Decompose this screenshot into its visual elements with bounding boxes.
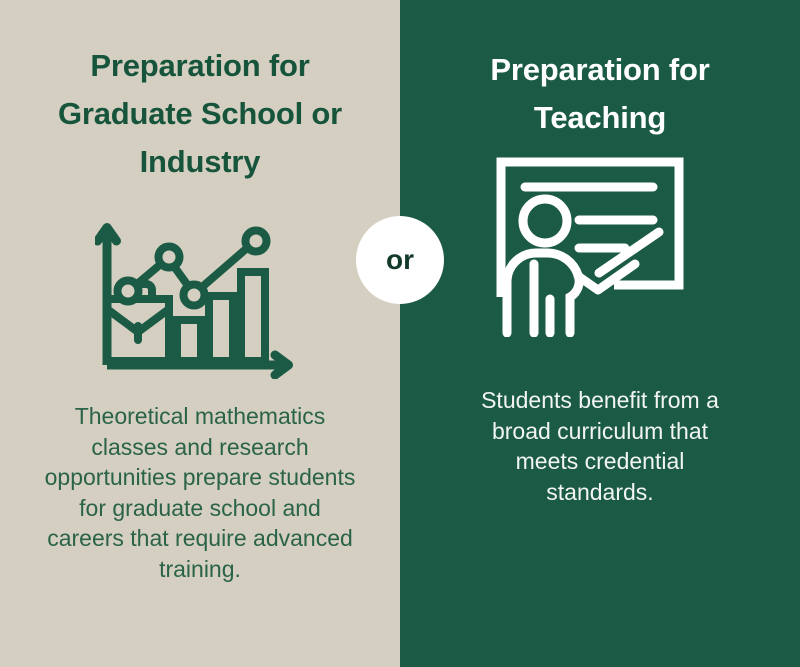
or-divider-badge: or — [356, 216, 444, 304]
panel-right-body-text: Students benefit from a broad curriculum… — [480, 385, 720, 507]
panel-left-body-text: Theoretical mathematics classes and rese… — [40, 401, 360, 584]
teacher-whiteboard-icon — [493, 152, 708, 337]
two-column-comparison-infographic: Preparation for Graduate School or Indus… — [0, 0, 800, 667]
growth-chart-briefcase-icon — [95, 214, 305, 379]
panel-graduate-school-industry: Preparation for Graduate School or Indus… — [0, 0, 400, 667]
panel-teaching: Preparation for Teaching — [400, 0, 800, 667]
panel-left-heading: Preparation for Graduate School or Indus… — [40, 42, 360, 186]
or-badge-label: or — [386, 246, 414, 274]
panel-right-heading: Preparation for Teaching — [450, 46, 750, 142]
